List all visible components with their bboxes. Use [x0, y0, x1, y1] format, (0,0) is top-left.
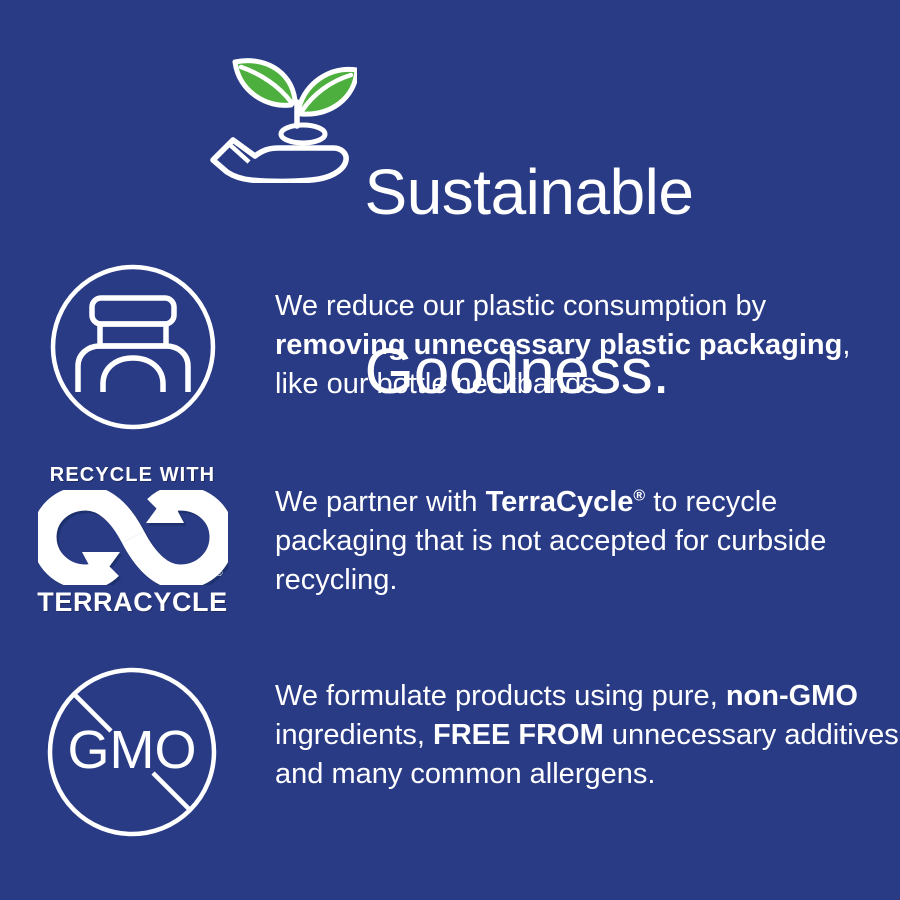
feature-row-plastic-reduction: We reduce our plastic consumption by rem…: [0, 262, 900, 437]
feature-text-gmo: We formulate products using pure, non-GM…: [265, 665, 900, 794]
feature-row-non-gmo: GMO We formulate products using pure, no…: [0, 665, 900, 845]
terracycle-logo: RECYCLE WITH: [38, 465, 228, 616]
feature-text-plastic: We reduce our plastic consumption by rem…: [265, 262, 900, 404]
gmo-label: GMO: [68, 720, 197, 780]
terracycle-wordmark: TERRACYCLE: [37, 589, 228, 616]
feature-icon-cell-gmo: GMO: [0, 665, 265, 840]
feature-icon-cell-plastic: [0, 262, 265, 432]
poster-header: Sustainable Goodness.: [0, 44, 900, 204]
feature-text-terracycle: We partner with TerraCycle® to recycle p…: [265, 465, 900, 600]
bottle-neckband-icon: [48, 262, 218, 432]
hand-holding-seedling-icon: [207, 48, 357, 183]
svg-text:®: ®: [216, 568, 223, 578]
feature-text-segment: We formulate products using pure,: [275, 680, 726, 712]
feature-text-segment: We reduce our plastic consumption by: [275, 290, 766, 322]
feature-text-segment-bold: non-GMO: [726, 680, 858, 712]
feature-text-segment-bold: TerraCycle: [486, 486, 634, 518]
feature-text-segment: We partner with: [275, 486, 486, 518]
terracycle-recycle-with-label: RECYCLE WITH: [50, 465, 215, 485]
page-title-line-1: Sustainable: [365, 163, 694, 223]
no-gmo-icon: GMO: [45, 665, 220, 840]
terracycle-infinity-arrows-icon: ®: [38, 490, 228, 585]
registered-trademark-symbol: ®: [633, 487, 645, 504]
feature-text-segment: ingredients,: [275, 719, 433, 751]
sustainable-goodness-poster: Sustainable Goodness. We reduce our plas…: [0, 0, 900, 900]
feature-text-segment-bold: FREE FROM: [433, 719, 604, 751]
feature-row-terracycle: RECYCLE WITH: [0, 465, 900, 630]
feature-icon-cell-terracycle: RECYCLE WITH: [0, 465, 265, 616]
feature-text-segment-bold: removing unnecessary plastic packaging: [275, 329, 842, 361]
